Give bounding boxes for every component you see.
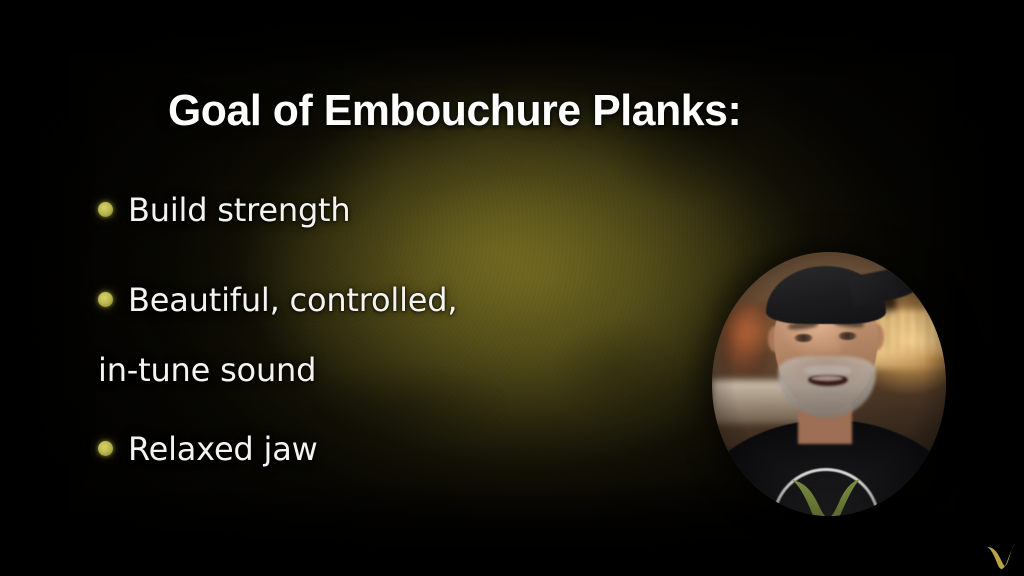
list-item-label: Build strength <box>128 188 350 232</box>
brand-v-logo-icon <box>986 540 1016 570</box>
presentation-slide: Goal of Embouchure Planks: Build strengt… <box>0 0 1024 576</box>
list-item: Build strength <box>98 188 350 232</box>
webcam-edge-vignette <box>712 252 946 516</box>
slide-title: Goal of Embouchure Planks: <box>168 86 692 136</box>
list-item-label-continuation: in-tune sound <box>98 348 316 392</box>
background-edge-left <box>0 0 110 576</box>
bullet-dot-icon <box>98 202 113 217</box>
list-item: Relaxed jaw <box>98 427 318 471</box>
list-item-label: Beautiful, controlled, <box>128 278 457 322</box>
list-item-label: Relaxed jaw <box>128 427 318 471</box>
bullet-dot-icon <box>98 441 113 456</box>
list-item: Beautiful, controlled, <box>98 278 457 322</box>
background-edge-top <box>0 0 1024 86</box>
webcam-overlay[interactable] <box>712 252 946 516</box>
bullet-dot-icon <box>98 292 113 307</box>
